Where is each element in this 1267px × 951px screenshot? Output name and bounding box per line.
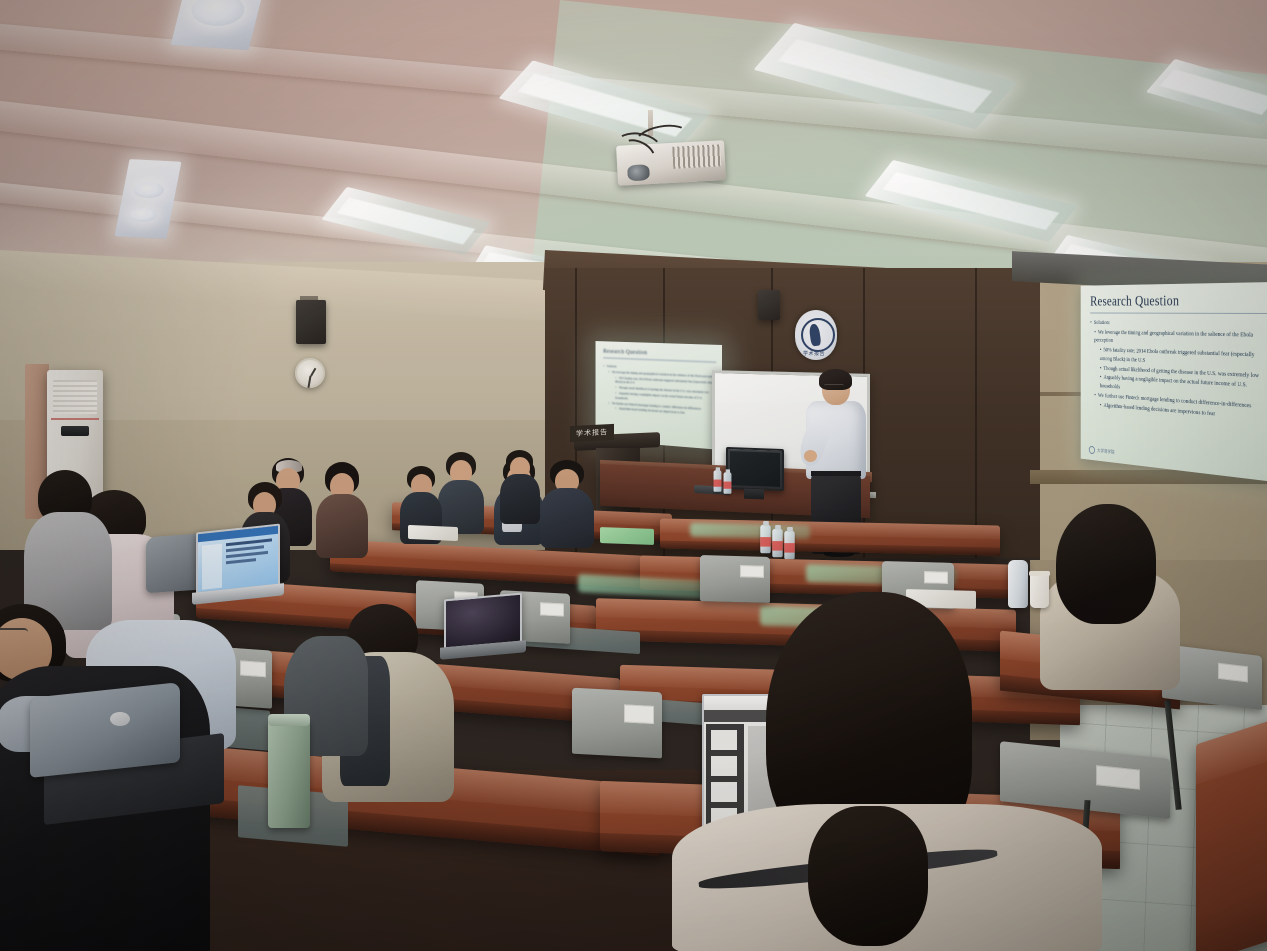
chair-label (624, 704, 654, 724)
water-bottle (714, 470, 722, 492)
slide-footer-logo-icon: 大学商学院 (1089, 446, 1115, 457)
ac-display (61, 426, 89, 436)
projection-screen-main: Research Question •Solution: •We leverag… (1081, 282, 1267, 482)
wall-clock (295, 358, 325, 388)
notebook (408, 525, 458, 541)
water-bottle (724, 472, 732, 494)
audience-member (24, 470, 112, 620)
ceiling-light-icon (171, 0, 264, 50)
monitor-stand (744, 489, 764, 500)
water-bottle (760, 525, 770, 554)
laptop-content (226, 558, 256, 564)
emblem-caption: 学术报告 (803, 350, 825, 357)
laptop-sidebar (202, 544, 222, 590)
glasses-icon (0, 628, 28, 641)
chair-label (240, 660, 266, 677)
presenter-hand (804, 450, 817, 462)
audience-member (672, 592, 1102, 951)
podium-nameplate: 学术报告 (570, 424, 614, 442)
green-thermos (268, 718, 310, 828)
audience-member (438, 452, 484, 532)
podium-monitor (726, 447, 784, 491)
lecture-hall-photo: 学术报告 Research Question •Solution: •We le… (0, 0, 1267, 951)
chair-label (540, 602, 564, 616)
chair-label (924, 571, 948, 584)
audience-member (316, 462, 368, 554)
water-bottle (772, 529, 782, 558)
student-laptop (196, 524, 280, 607)
slide-main: Research Question •Solution: •We leverag… (1081, 282, 1267, 482)
chair-label (1218, 663, 1248, 683)
audience-member (540, 460, 594, 544)
student-laptop (444, 593, 522, 662)
presenter-belt (811, 471, 861, 476)
backpack (30, 682, 180, 778)
slide-body: •Solution: •We leverage the timing and g… (1090, 319, 1267, 423)
chair-label (1096, 765, 1140, 790)
university-emblem: 学术报告 (795, 310, 837, 360)
slide-title-rule (1090, 313, 1267, 314)
wall-speaker (296, 300, 326, 344)
laptop-content (226, 551, 268, 558)
glasses-icon (824, 384, 844, 390)
audience-member (500, 450, 540, 520)
laptop-screen (196, 524, 280, 595)
water-bottle (784, 531, 794, 560)
backpack-logo-icon (110, 712, 130, 726)
slide-title: Research Question (1090, 292, 1267, 310)
chair-label (740, 565, 764, 578)
slide-body-secondary: •Solution: •We leverage the timing and g… (603, 364, 716, 418)
thermos-lid (268, 714, 310, 726)
classroom-chair (572, 688, 662, 759)
laptop-content (226, 538, 272, 546)
wall-speaker (758, 290, 780, 320)
notebook (600, 527, 654, 545)
ponytail (808, 806, 928, 946)
ac-grille (53, 380, 97, 414)
student-desk (1196, 715, 1267, 951)
ceiling-projector (616, 132, 727, 192)
